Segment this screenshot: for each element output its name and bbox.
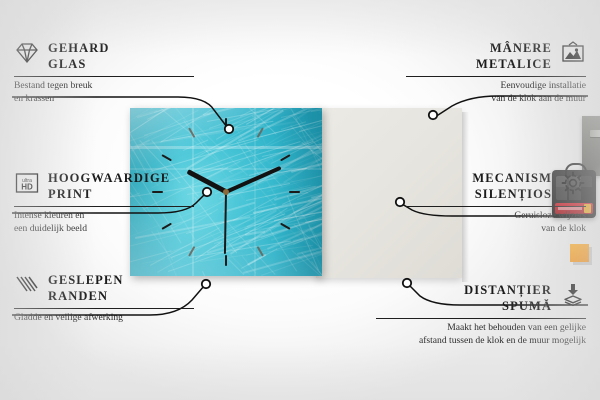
callout-gehard-glas: GEHARD GLAS Bestand tegen breuk en krass… <box>14 40 194 106</box>
product-feature-infographic: GEHARD GLAS Bestand tegen breuk en krass… <box>0 0 600 400</box>
beveled-edge-icon <box>14 272 40 298</box>
callout-subtitle: Intense kleuren en een duidelijk beeld <box>14 210 194 236</box>
callout-subtitle: Gladde en veilige afwerking <box>14 312 194 325</box>
callout-hoogwaardige-print: ultra HD HOOGWAARDIGE PRINT Intense kleu… <box>14 170 194 236</box>
picture-hanger-icon <box>560 40 586 66</box>
callout-subtitle: Maakt het behouden van een gelijke afsta… <box>376 322 586 348</box>
hanger-slot <box>590 130 600 137</box>
callout-title: GEHARD GLAS <box>48 40 109 72</box>
callout-rule <box>14 308 194 309</box>
callout-mecanism-silentios: MECANISM SILENȚIOS Geruisloze wijzers va… <box>406 170 586 236</box>
diamond-icon <box>14 40 40 66</box>
callout-rule <box>14 206 194 207</box>
spacer-layers-icon <box>560 282 586 308</box>
clock-tick <box>226 191 300 193</box>
callout-title: DISTANȚIER SPUMĂ <box>464 282 552 314</box>
leader-dot-geslepen-randen <box>202 280 210 288</box>
clock-tick <box>225 118 227 192</box>
callout-rule <box>406 206 586 207</box>
callout-rule <box>14 76 194 77</box>
callout-manere-metalice: MÂNERE METALICE Eenvoudige installatie v… <box>406 40 586 106</box>
ultra-hd-icon: ultra HD <box>14 170 40 196</box>
callout-title: MÂNERE METALICE <box>476 40 552 72</box>
callout-subtitle: Geruisloze wijzers van de klok <box>406 210 586 236</box>
callout-title: GESLEPEN RANDEN <box>48 272 124 304</box>
callout-rule <box>376 318 586 319</box>
callout-geslepen-randen: GESLEPEN RANDEN Gladde en veilige afwerk… <box>14 272 194 325</box>
gear-icon <box>560 170 586 196</box>
callout-rule <box>406 76 586 77</box>
callout-title: MECANISM SILENȚIOS <box>472 170 552 202</box>
foam-spacer <box>570 244 589 262</box>
svg-text:HD: HD <box>21 183 33 192</box>
callout-subtitle: Eenvoudige installatie van de klok aan d… <box>406 80 586 106</box>
clock-center-pin <box>223 189 229 195</box>
callout-subtitle: Bestand tegen breuk en krassen <box>14 80 194 106</box>
callout-distantier-spuma: DISTANȚIER SPUMĂ Maakt het behouden van … <box>376 282 586 348</box>
callout-title: HOOGWAARDIGE PRINT <box>48 170 170 202</box>
